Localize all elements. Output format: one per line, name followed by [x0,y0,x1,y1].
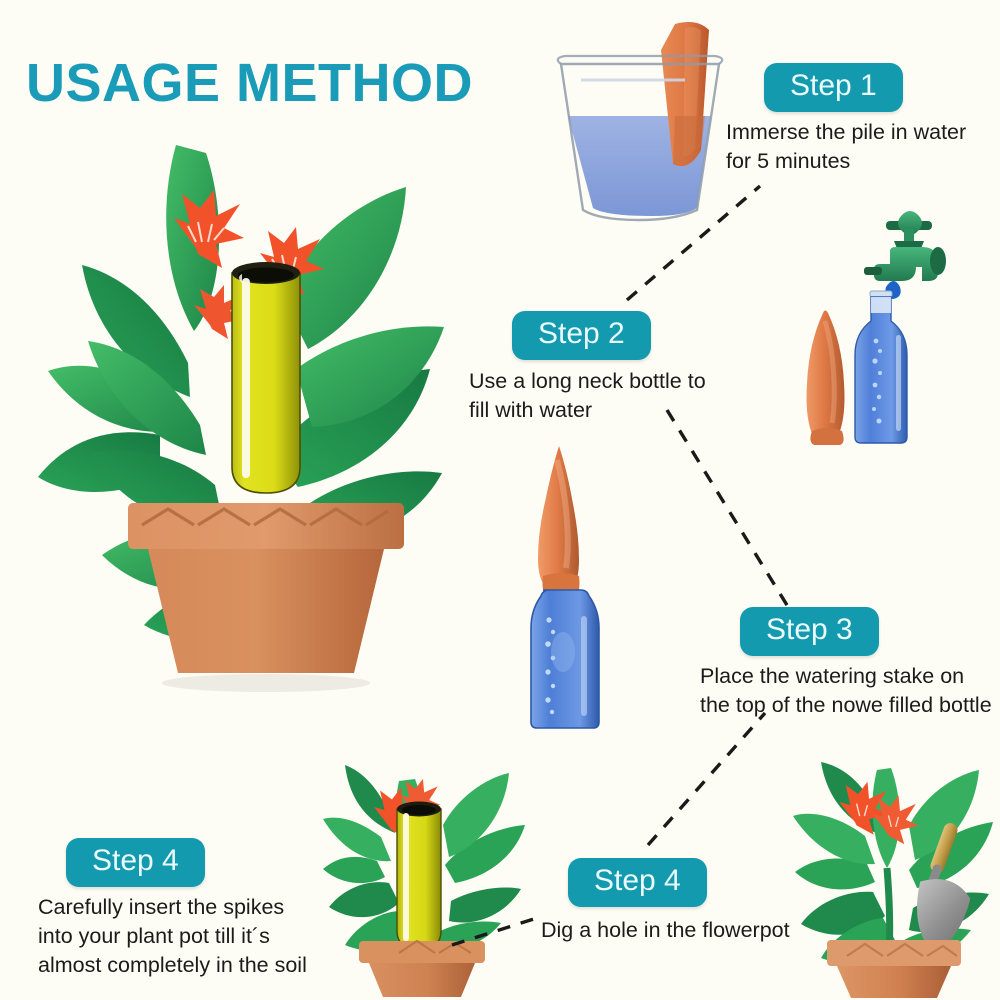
step-description-3: Place the watering stake on the top of t… [700,662,1000,720]
connector-step2-to-step3 [667,410,790,610]
connector-pot-to-step4-text [452,917,540,945]
connector-step3-to-step4 [648,713,765,845]
step-badge-1[interactable]: Step 1 [764,63,903,112]
connector-step2-to-step1 [627,186,760,300]
step-badge-4-right[interactable]: Step 4 [568,858,707,907]
step-badge-3[interactable]: Step 3 [740,607,879,656]
infographic-canvas: USAGE METHOD [0,0,1000,1000]
step-description-2: Use a long neck bottle to fill with wate… [469,367,749,425]
step-badge-2[interactable]: Step 2 [512,311,651,360]
step-description-4-right: Dig a hole in the flowerpot [541,916,841,945]
step-description-1: Immerse the pile in water for 5 minutes [726,118,1000,176]
step-description-4-left: Carefully insert the spikes into your pl… [38,893,338,980]
step-badge-4-left[interactable]: Step 4 [66,838,205,887]
